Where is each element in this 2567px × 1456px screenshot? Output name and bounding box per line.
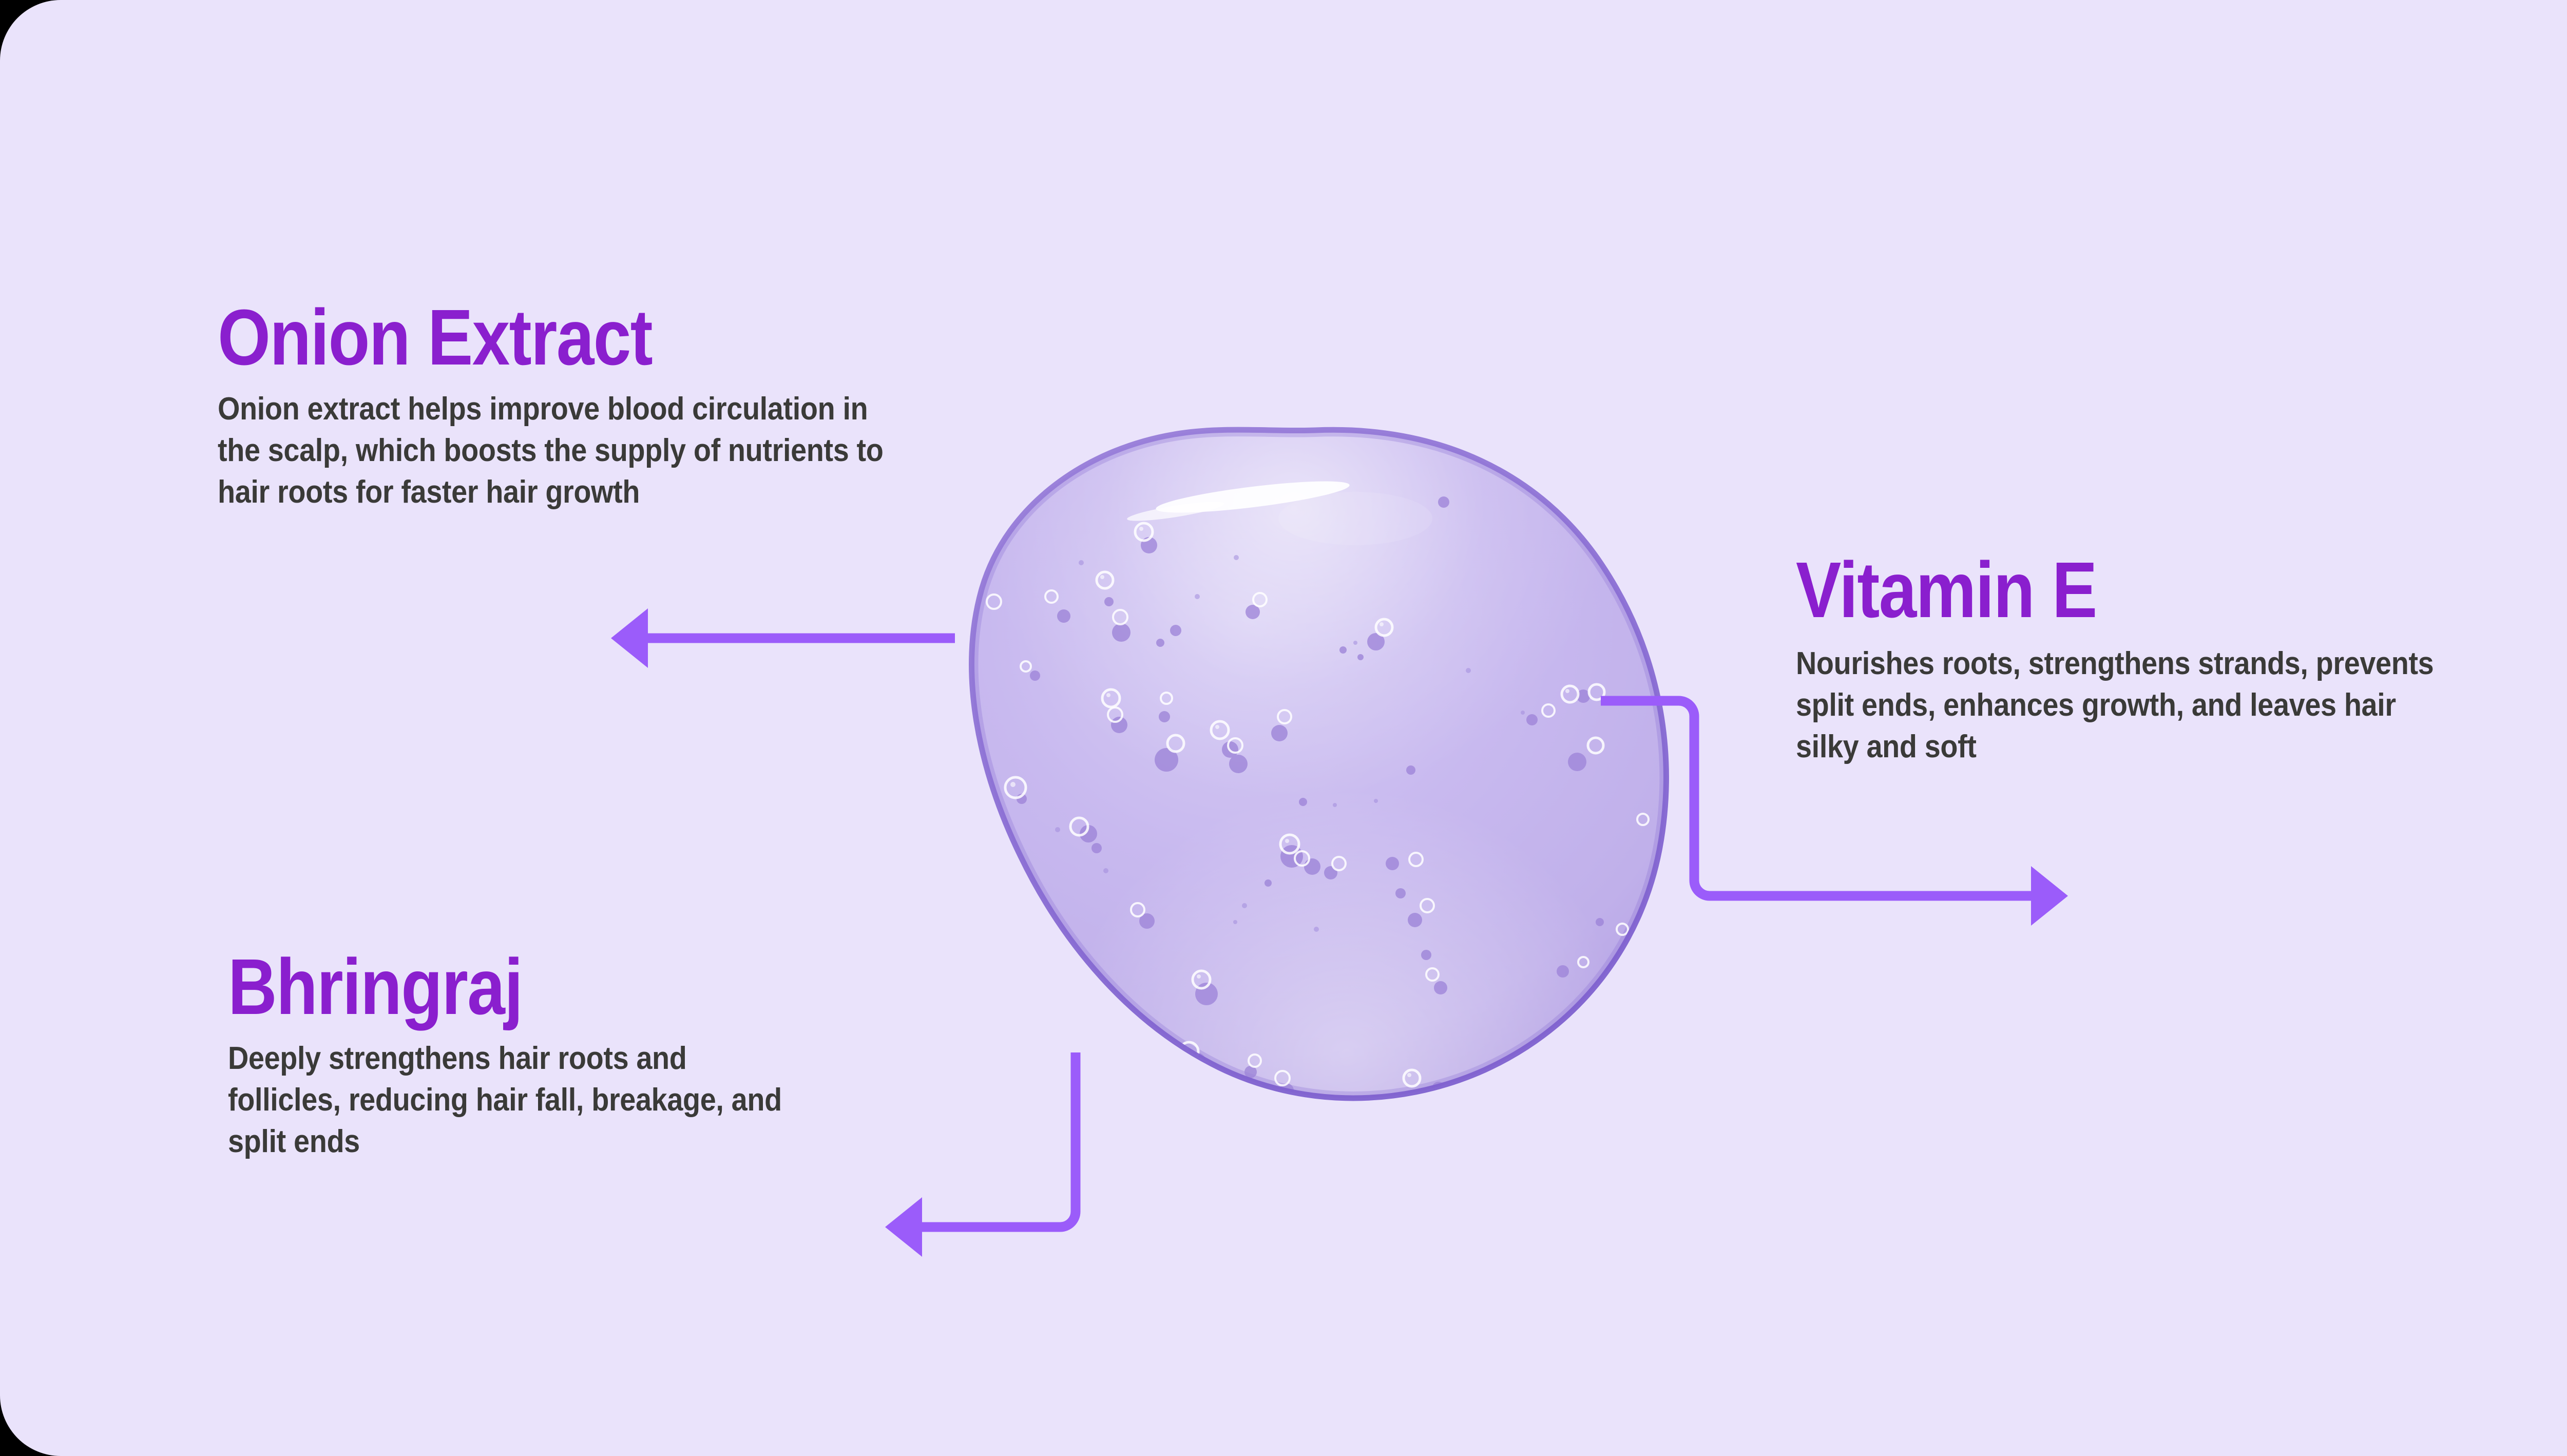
connector-onion-extract	[611, 608, 955, 668]
ingredient-onion-extract: Onion Extract Onion extract helps improv…	[218, 298, 988, 513]
infographic-canvas: Onion Extract Onion extract helps improv…	[0, 0, 2567, 1456]
hair-serum-gel-blob	[934, 411, 1684, 1109]
ingredient-description-onion-extract: Onion extract helps improve blood circul…	[218, 388, 911, 513]
ingredient-title-vitamin-e: Vitamin E	[1796, 550, 2485, 629]
ingredient-description-bhringraj: Deeply strengthens hair roots and follic…	[228, 1038, 806, 1162]
ingredient-vitamin-e: Vitamin E Nourishes roots, strengthens s…	[1796, 550, 2567, 768]
infographic-card: Onion Extract Onion extract helps improv…	[0, 0, 2567, 1456]
ingredient-description-vitamin-e: Nourishes roots, strengthens strands, pr…	[1796, 643, 2461, 768]
ingredient-title-onion-extract: Onion Extract	[218, 298, 880, 377]
ingredient-bhringraj: Bhringraj Deeply strengthens hair roots …	[228, 947, 947, 1162]
ingredient-title-bhringraj: Bhringraj	[228, 947, 846, 1026]
